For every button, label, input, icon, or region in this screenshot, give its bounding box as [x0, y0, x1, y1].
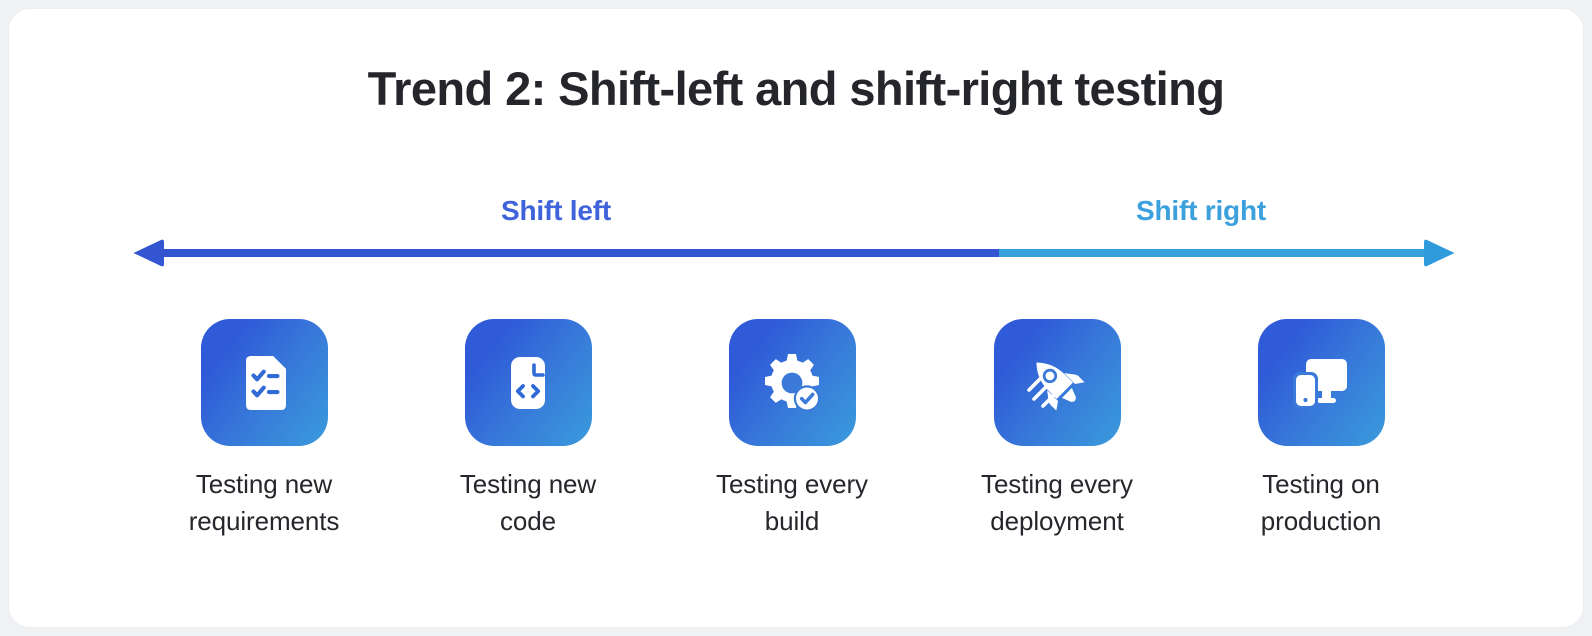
arrow-right-icon [1424, 240, 1455, 267]
stage-caption-line2: code [403, 503, 653, 540]
monitor-phone-icon [1289, 351, 1353, 415]
axis-label-shift-right: Shift right [1136, 195, 1266, 227]
stage-caption-line2: build [667, 503, 917, 540]
stage-icon-tile [994, 319, 1121, 446]
stage-caption-line1: Testing new [139, 466, 389, 503]
stage-caption-line1: Testing every [932, 466, 1182, 503]
stage-icon-tile [465, 319, 592, 446]
stage-icon-tile [1258, 319, 1385, 446]
stage-item-testing-new-requirements: Testing new requirements [139, 319, 389, 540]
page-title: Trend 2: Shift-left and shift-right test… [9, 61, 1583, 116]
code-file-icon [496, 351, 560, 415]
arrow-left-icon [134, 240, 165, 267]
stage-caption-line2: requirements [139, 503, 389, 540]
stage-caption: Testing new requirements [139, 466, 389, 540]
infographic-card: Trend 2: Shift-left and shift-right test… [8, 8, 1584, 628]
stage-icon-tile [201, 319, 328, 446]
stage-item-testing-every-build: Testing every build [667, 319, 917, 540]
rocket-icon [1024, 350, 1090, 416]
stage-caption-line1: Testing on [1196, 466, 1446, 503]
checklist-document-icon [232, 351, 296, 415]
stage-caption-line1: Testing every [667, 466, 917, 503]
stage-item-testing-new-code: Testing new code [403, 319, 653, 540]
stage-item-testing-on-production: Testing on production [1196, 319, 1446, 540]
stage-list: Testing new requirements Testing new cod… [9, 319, 1583, 549]
stage-caption: Testing every deployment [932, 466, 1182, 540]
axis-label-shift-left: Shift left [501, 195, 611, 227]
stage-caption: Testing on production [1196, 466, 1446, 540]
shift-axis [131, 237, 1457, 269]
stage-caption-line2: production [1196, 503, 1446, 540]
gear-check-icon [759, 350, 825, 416]
stage-caption: Testing new code [403, 466, 653, 540]
stage-caption-line1: Testing new [403, 466, 653, 503]
stage-icon-tile [729, 319, 856, 446]
stage-item-testing-every-deployment: Testing every deployment [932, 319, 1182, 540]
stage-caption: Testing every build [667, 466, 917, 540]
stage-caption-line2: deployment [932, 503, 1182, 540]
